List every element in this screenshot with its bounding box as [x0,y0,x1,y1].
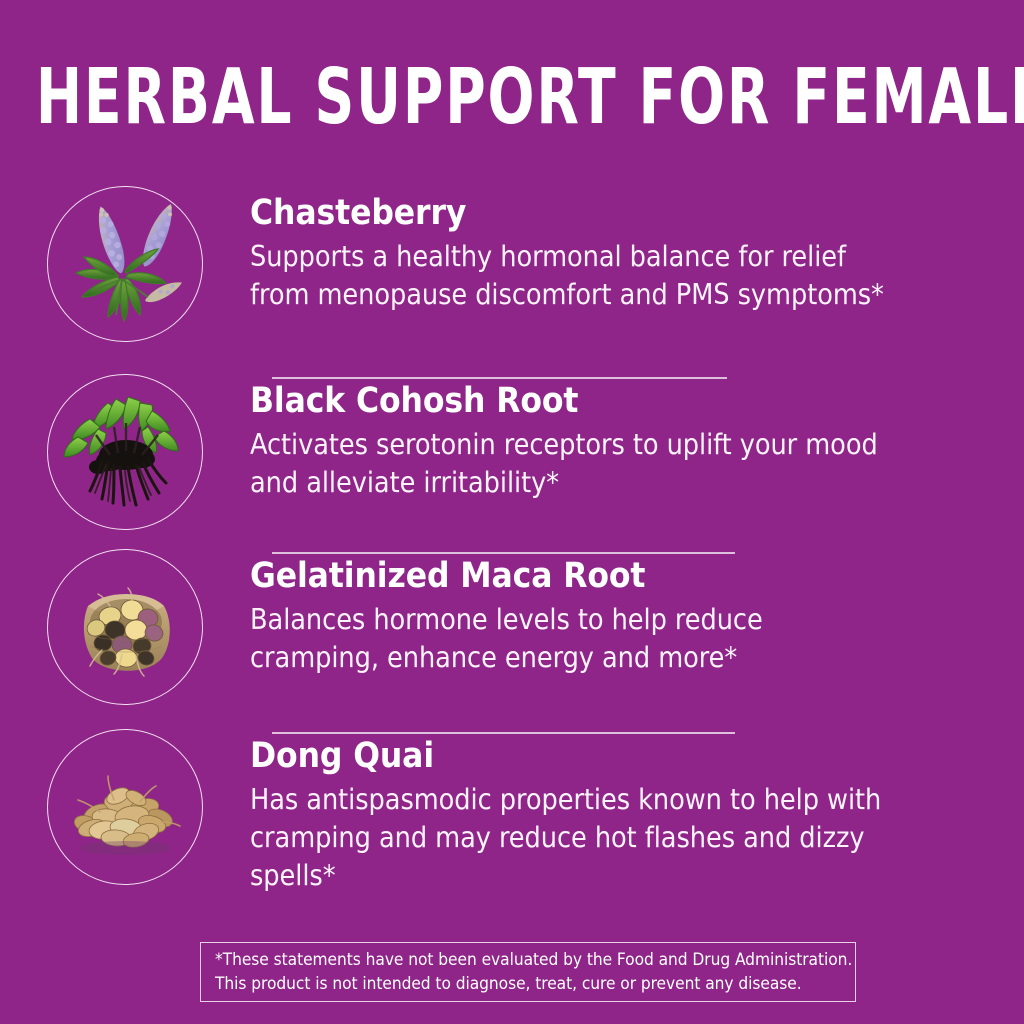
disclaimer-box: *These statements have not been evaluate… [200,942,856,1002]
disclaimer-line-2: This product is not intended to diagnose… [215,972,841,996]
ingredient-list: Chasteberry Supports a healthy hormonal … [0,186,1024,919]
ingredient-name: Dong Quai [250,735,884,777]
thumbnail-container [0,549,250,705]
ingredient-description: Activates serotonin receptors to uplift … [250,426,884,502]
ingredient-text-column: Dong Quai Has antispasmodic properties k… [250,729,1024,895]
chasteberry-sprig-image [48,187,204,343]
ingredient-description: Supports a healthy hormonal balance for … [250,238,884,314]
ingredient-description: Has antispasmodic properties known to he… [250,781,884,895]
black-cohosh-root-image [48,375,204,531]
page-title: HERBAL SUPPORT FOR FEMALE BALANCE [36,52,988,142]
thumbnail-container [0,729,250,885]
ingredient-row-gelatinized-maca-root: Gelatinized Maca Root Balances hormone l… [0,549,1024,729]
dong-quai-circle-frame [47,729,203,885]
thumbnail-container [0,374,250,530]
black-cohosh-circle-frame [47,374,203,530]
ingredient-text-column: Black Cohosh Root Activates serotonin re… [250,374,1024,502]
maca-circle-frame [47,549,203,705]
ingredient-name: Black Cohosh Root [250,380,884,422]
ingredient-name: Gelatinized Maca Root [250,555,884,597]
infographic-poster: HERBAL SUPPORT FOR FEMALE BALANCE [0,0,1024,1024]
thumbnail-container [0,186,250,342]
maca-root-sack-image [48,550,204,706]
disclaimer-line-1: *These statements have not been evaluate… [215,948,841,972]
dong-quai-slices-image [48,730,204,886]
ingredient-name: Chasteberry [250,192,884,234]
ingredient-row-black-cohosh-root: Black Cohosh Root Activates serotonin re… [0,374,1024,549]
ingredient-text-column: Chasteberry Supports a healthy hormonal … [250,186,1024,314]
ingredient-row-dong-quai: Dong Quai Has antispasmodic properties k… [0,729,1024,919]
chasteberry-circle-frame [47,186,203,342]
ingredient-description: Balances hormone levels to help reduce c… [250,601,884,677]
ingredient-text-column: Gelatinized Maca Root Balances hormone l… [250,549,1024,677]
ingredient-row-chasteberry: Chasteberry Supports a healthy hormonal … [0,186,1024,374]
